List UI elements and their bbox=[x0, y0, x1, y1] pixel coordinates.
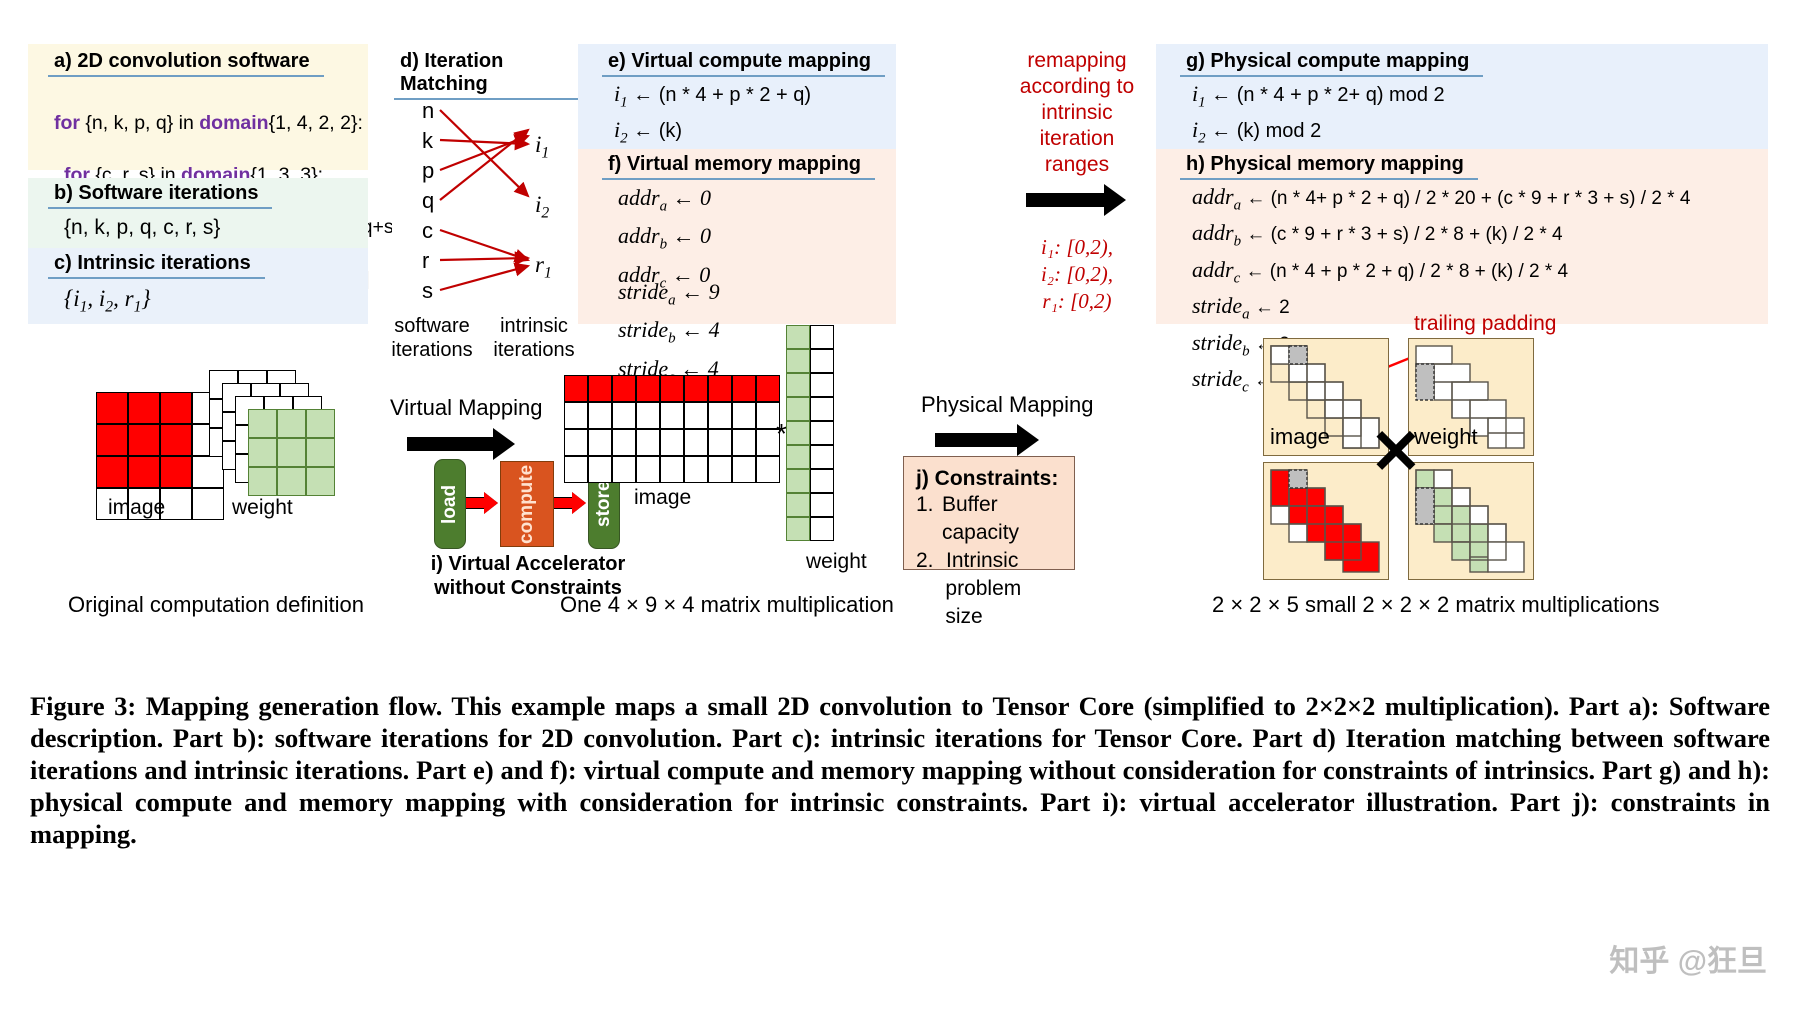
original-image-label: image bbox=[108, 496, 165, 520]
panel-d-iteration-matching: d) Iteration Matching n k p q c r s i1 i… bbox=[392, 44, 578, 324]
panel-b-software-iterations: b) Software iterations {n, k, p, q, c, r… bbox=[28, 178, 368, 248]
range-i1: i₁: [0,2), bbox=[1010, 234, 1144, 261]
load-to-compute-arrow-icon bbox=[466, 492, 498, 514]
equation-phys-i2: i2 ← (k) mod 2 bbox=[1192, 116, 1446, 152]
compute-to-store-arrow-icon bbox=[554, 492, 586, 514]
virtual-image-label: image bbox=[634, 486, 691, 510]
equation-i1: i1 ← (n * 4 + p * 2 + q) bbox=[614, 80, 811, 116]
accelerator-block-compute: compute bbox=[500, 461, 554, 547]
physical-weight-tiles-bottom bbox=[1408, 462, 1534, 580]
physical-weight-label: weight bbox=[1414, 424, 1478, 450]
virtual-image-matrix bbox=[564, 375, 780, 483]
trailing-padding-cell-weight bbox=[1416, 364, 1434, 400]
equation-stride-a: stridea ← 9 bbox=[618, 277, 720, 315]
equation-i2: i2 ← (k) bbox=[614, 116, 811, 152]
remapping-arrow-icon bbox=[1026, 184, 1126, 216]
constraint-item-2: 2.Intrinsic bbox=[916, 547, 1062, 575]
virtual-mapping-caption: One 4 × 9 × 4 matrix multiplication bbox=[560, 592, 894, 618]
remapping-annotation: remapping according to intrinsic iterati… bbox=[1010, 44, 1144, 324]
equation-addr-a: addra ← 0 bbox=[618, 183, 711, 221]
panel-e-title: e) Virtual compute mapping bbox=[602, 50, 885, 77]
panel-d-software-label: softwareiterations bbox=[382, 314, 482, 362]
constraint-item-2-cont: problem size bbox=[916, 575, 1062, 631]
physical-mapping-caption: 2 × 2 × 5 small 2 × 2 × 2 matrix multipl… bbox=[1212, 592, 1660, 618]
range-i2: i₂: [0,2), bbox=[1010, 261, 1144, 288]
virtual-weight-matrix bbox=[786, 325, 834, 541]
virtual-mapping-label: Virtual Mapping bbox=[390, 395, 542, 421]
original-weight-grid-layer4 bbox=[248, 409, 335, 496]
figure-caption: Figure 3: Mapping generation flow. This … bbox=[30, 690, 1770, 850]
remapping-label: remapping according to intrinsic iterati… bbox=[1010, 48, 1144, 178]
physical-mapping-label: Physical Mapping bbox=[921, 392, 1093, 418]
panel-c-title: c) Intrinsic iterations bbox=[48, 252, 265, 279]
range-r1: r₁: [0,2) bbox=[1010, 288, 1144, 315]
virtual-mapping-arrow-icon bbox=[407, 428, 515, 460]
equation-phys-addr-a: addra ← (n * 4+ p * 2 + q) / 2 * 20 + (c… bbox=[1192, 183, 1690, 219]
virtual-weight-label: weight bbox=[806, 550, 867, 574]
watermark: 知乎 @狂旦 bbox=[1609, 936, 1767, 980]
panel-f-title: f) Virtual memory mapping bbox=[602, 153, 875, 180]
panel-h-physical-memory-mapping: h) Physical memory mapping addra ← (n * … bbox=[1156, 149, 1768, 324]
panel-j-constraints: j) Constraints: 1.Buffer capacity 2.Intr… bbox=[903, 456, 1075, 570]
equation-stride-b: strideb ← 4 bbox=[618, 315, 720, 353]
equation-phys-i1: i1 ← (n * 4 + p * 2+ q) mod 2 bbox=[1192, 80, 1446, 116]
iteration-matching-arrows bbox=[392, 44, 578, 324]
panel-h-title: h) Physical memory mapping bbox=[1180, 153, 1478, 180]
panel-b-body: {n, k, p, q, c, r, s} bbox=[64, 216, 220, 240]
panel-g-title: g) Physical compute mapping bbox=[1180, 50, 1483, 77]
panel-g-physical-compute-mapping: g) Physical compute mapping i1 ← (n * 4 … bbox=[1156, 44, 1768, 149]
original-computation-caption: Original computation definition bbox=[68, 592, 364, 618]
panel-c-intrinsic-iterations: c) Intrinsic iterations {i1, i2, r1} bbox=[28, 248, 368, 324]
equation-addr-b: addrb ← 0 bbox=[618, 221, 711, 259]
panel-a-2d-convolution-software: a) 2D convolution software for {n, k, p,… bbox=[28, 44, 368, 170]
panel-d-intrinsic-label: intrinsiciterations bbox=[484, 314, 584, 362]
panel-e-virtual-compute-mapping: e) Virtual compute mapping i1 ← (n * 4 +… bbox=[578, 44, 896, 149]
panel-b-title: b) Software iterations bbox=[48, 182, 272, 209]
constraint-item-1: 1.Buffer capacity bbox=[916, 491, 1062, 547]
accelerator-block-load: load bbox=[434, 459, 466, 549]
panel-f-virtual-memory-mapping: f) Virtual memory mapping addra ← 0 addr… bbox=[578, 149, 896, 324]
equation-phys-addr-c: addrc ← (n * 4 + p * 2 + q) / 2 * 8 + (k… bbox=[1192, 256, 1690, 292]
physical-mapping-arrow-icon bbox=[935, 424, 1039, 456]
panel-j-title: j) Constraints: bbox=[916, 467, 1062, 491]
panel-a-title: a) 2D convolution software bbox=[48, 50, 324, 77]
panel-c-body: {i1, i2, r1} bbox=[64, 286, 151, 317]
physical-image-label: image bbox=[1270, 424, 1330, 450]
physical-multiply-icon: ✕ bbox=[1370, 422, 1422, 484]
equation-phys-addr-b: addrb ← (c * 9 + r * 3 + s) / 2 * 8 + (k… bbox=[1192, 219, 1690, 255]
trailing-padding-cell bbox=[1289, 346, 1307, 364]
intrinsic-ranges: i₁: [0,2), i₂: [0,2), r₁: [0,2) bbox=[1010, 234, 1144, 315]
original-weight-label: weight bbox=[232, 496, 293, 520]
